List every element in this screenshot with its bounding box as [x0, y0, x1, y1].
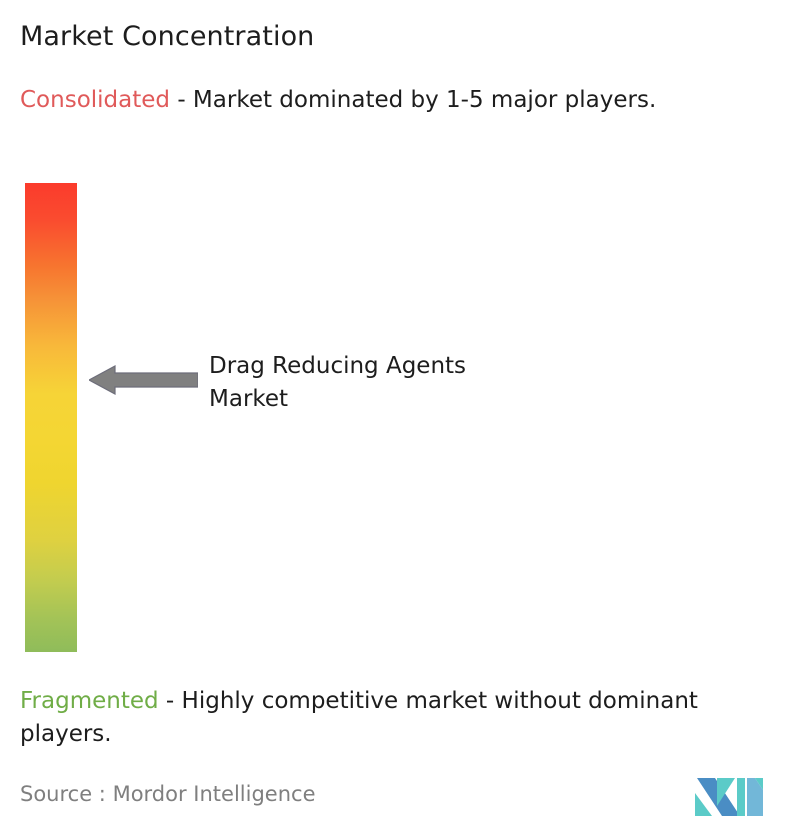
source-label: Source : [20, 782, 106, 806]
arrow-left-icon [89, 363, 198, 397]
legend-description-consolidated: - Market dominated by 1-5 major players. [170, 87, 656, 113]
annotation-label-line1: Drag Reducing Agents [209, 350, 609, 383]
source-name: Mordor Intelligence [113, 782, 316, 806]
legend-consolidated: Consolidated - Market dominated by 1-5 m… [20, 84, 776, 117]
market-concentration-infographic: Market Concentration Consolidated - Mark… [0, 0, 796, 834]
mordor-intelligence-logo [695, 768, 763, 816]
legend-label-consolidated: Consolidated [20, 87, 170, 113]
annotation-label: Drag Reducing Agents Market [209, 350, 609, 416]
legend-label-fragmented: Fragmented [20, 688, 159, 714]
source-attribution: Source : Mordor Intelligence [20, 780, 315, 808]
annotation-label-line2: Market [209, 383, 609, 416]
legend-fragmented: Fragmented - Highly competitive market w… [20, 685, 782, 751]
page-title: Market Concentration [20, 20, 314, 54]
market-concentration-gradient-bar [25, 183, 77, 652]
